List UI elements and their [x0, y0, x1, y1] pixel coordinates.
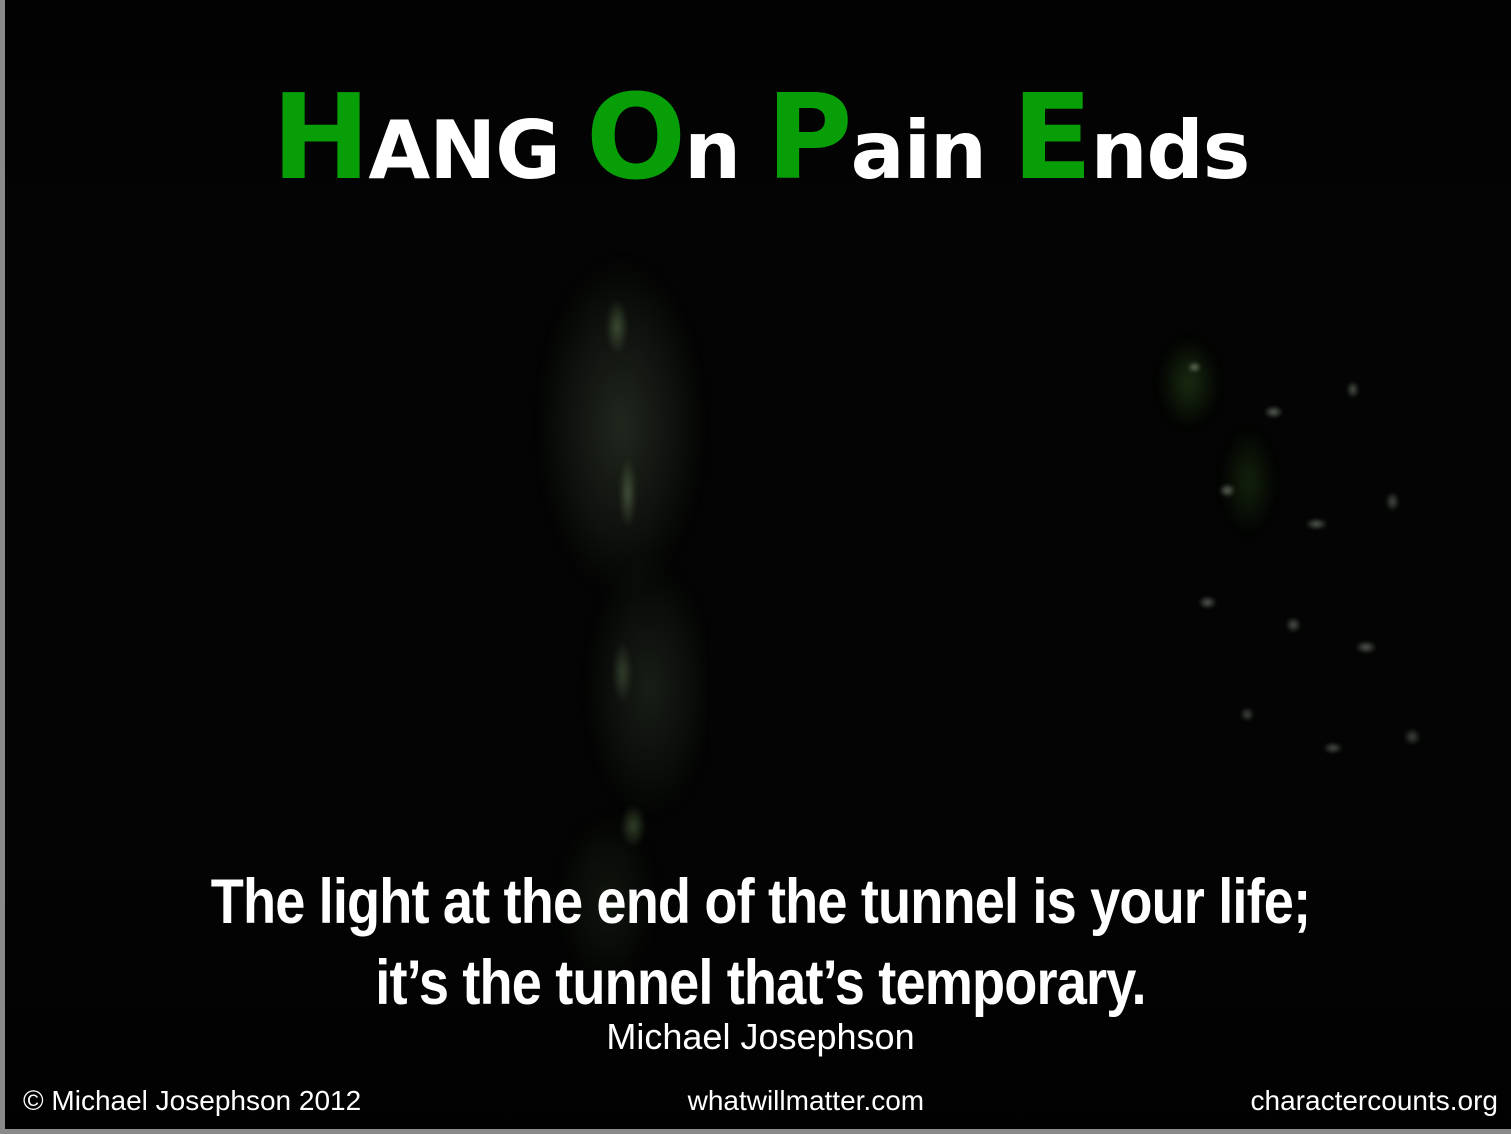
quote-text: The light at the end of the tunnel is yo…	[111, 862, 1410, 1023]
footer-site-whatwillmatter[interactable]: whatwillmatter.com	[361, 1085, 1250, 1117]
page-title: HANGOnPainEnds	[5, 78, 1511, 196]
headline-cap-p: P	[766, 68, 850, 206]
headline-word-on: On	[586, 163, 740, 182]
headline-cap-o: O	[586, 68, 684, 206]
footer-site-charactercounts[interactable]: charactercounts.org	[1251, 1085, 1498, 1117]
footer-copyright: © Michael Josephson 2012	[23, 1085, 361, 1117]
quote-line-1: The light at the end of the tunnel is yo…	[111, 862, 1410, 943]
headline-word-pain: Pain	[766, 163, 986, 182]
tunnel-rim-left	[563, 250, 653, 890]
quote-line-2: it’s the tunnel that’s temporary.	[111, 943, 1410, 1024]
headline-rest-nds: nds	[1091, 104, 1250, 197]
headline-rest-ang: ANG	[368, 104, 560, 197]
footer: © Michael Josephson 2012 whatwillmatter.…	[5, 1081, 1511, 1121]
moss-patch	[1155, 300, 1325, 630]
headline-cap-e: E	[1012, 68, 1091, 206]
headline-word-hang: HANG	[272, 163, 560, 182]
headline-cap-h: H	[272, 68, 369, 206]
headline-rest-n: n	[684, 104, 740, 197]
headline-rest-ain: ain	[851, 104, 986, 197]
poster: HANGOnPainEnds The light at the end of t…	[0, 0, 1511, 1134]
headline-word-ends: Ends	[1012, 163, 1249, 182]
quote-attribution: Michael Josephson	[5, 1016, 1511, 1058]
